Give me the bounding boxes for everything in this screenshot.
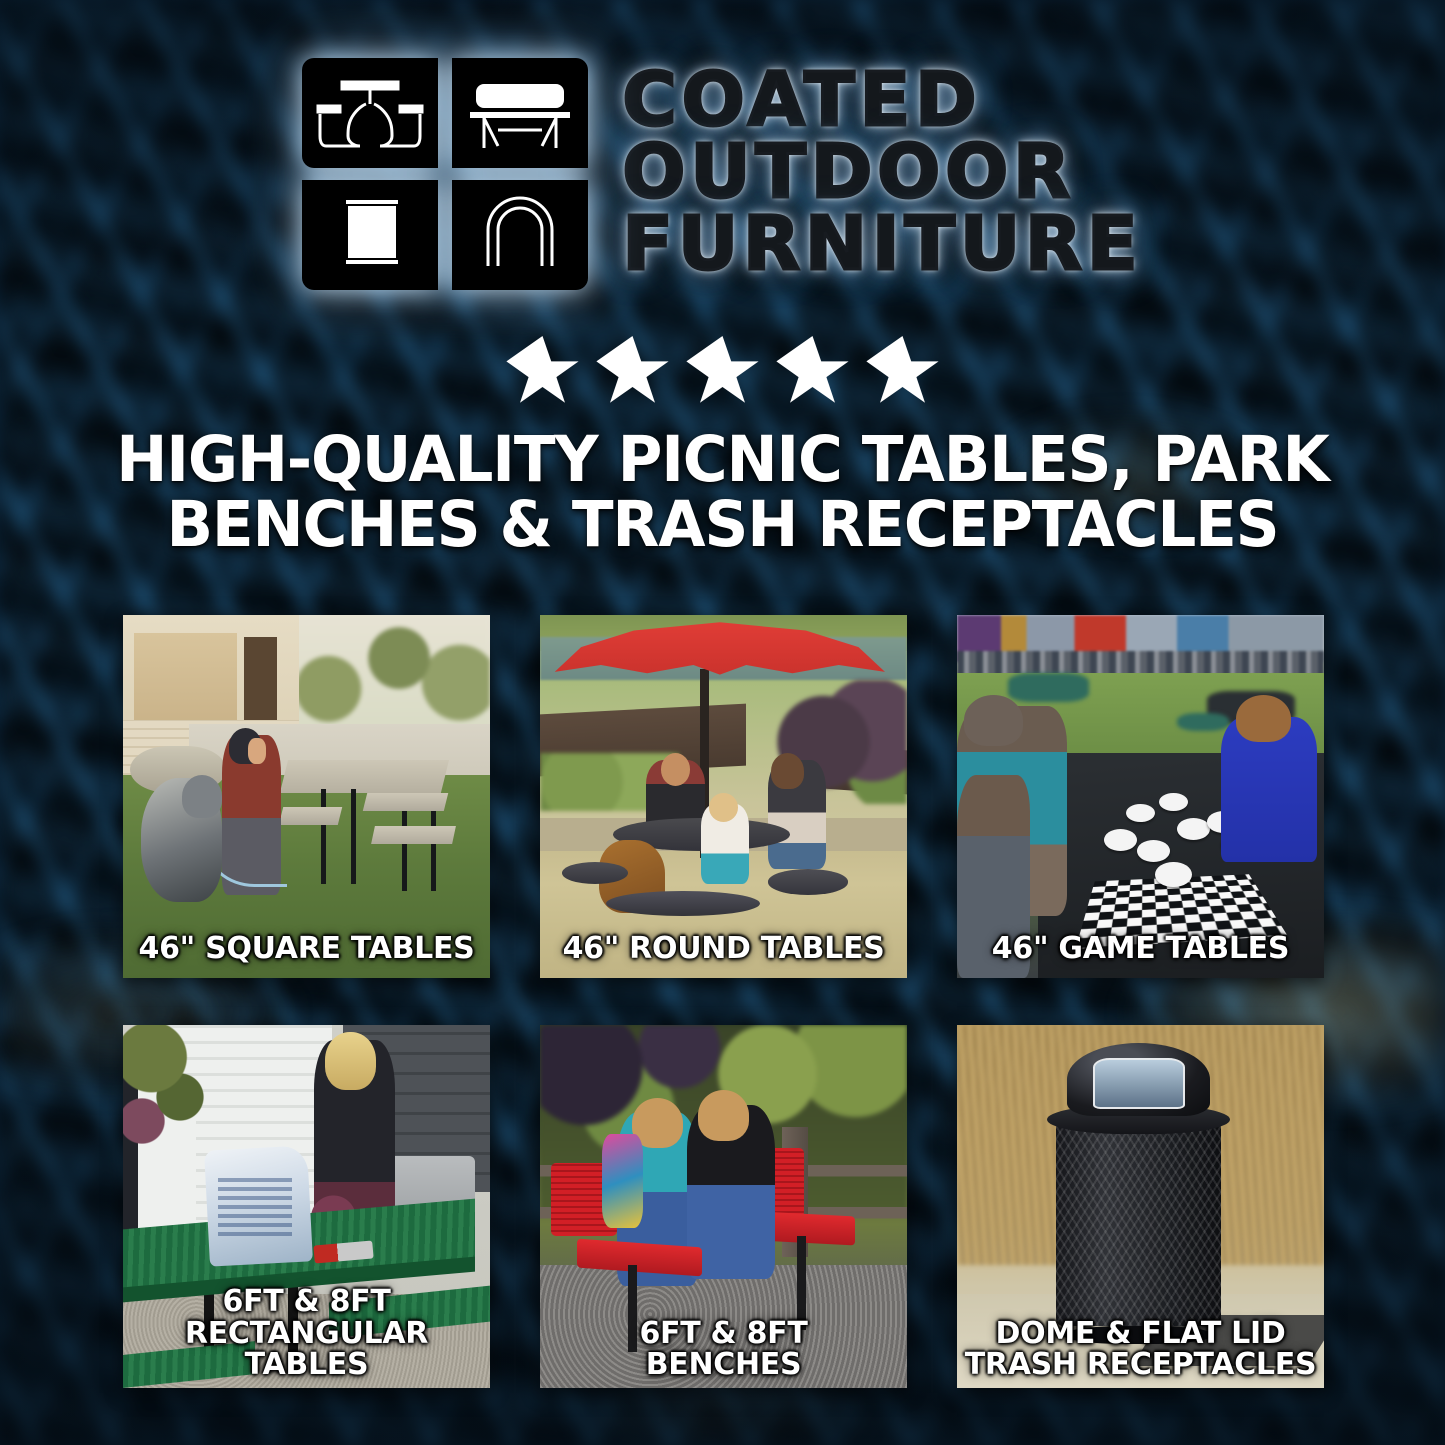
product-photo xyxy=(957,615,1324,978)
caption-line-1: DOME & FLAT LID xyxy=(963,1318,1318,1349)
caption-line-1: 6FT & 8FT xyxy=(129,1286,484,1317)
brand-wordmark: COATED OUTDOOR FURNITURE xyxy=(622,65,1142,284)
headline-line-1: HIGH-QUALITY PICNIC TABLES, PARK xyxy=(70,428,1375,493)
star-rating xyxy=(0,336,1445,408)
star-icon xyxy=(686,336,760,408)
product-caption: DOME & FLAT LID TRASH RECEPTACLES xyxy=(963,1318,1318,1380)
product-tile-benches[interactable]: 6FT & 8FT BENCHES xyxy=(540,1025,907,1388)
product-photo xyxy=(123,615,490,978)
caption-line-2: BENCHES xyxy=(546,1349,901,1380)
star-icon xyxy=(776,336,850,408)
product-photo xyxy=(540,615,907,978)
star-icon xyxy=(866,336,940,408)
caption-line-2: TRASH RECEPTACLES xyxy=(963,1349,1318,1380)
brand-word-1: COATED xyxy=(622,65,1142,135)
headline-line-2: BENCHES & TRASH RECEPTACLES xyxy=(70,493,1375,558)
star-icon xyxy=(506,336,580,408)
caption-line-1: 46" SQUARE TABLES xyxy=(129,933,484,964)
caption-line-2: RECTANGULAR TABLES xyxy=(129,1318,484,1380)
product-caption: 46" GAME TABLES xyxy=(963,933,1318,964)
promotional-poster: COATED OUTDOOR FURNITURE HIGH-QUALITY PI… xyxy=(0,0,1445,1445)
product-caption: 46" SQUARE TABLES xyxy=(129,933,484,964)
product-caption: 46" ROUND TABLES xyxy=(546,933,901,964)
page-title: HIGH-QUALITY PICNIC TABLES, PARK BENCHES… xyxy=(70,428,1375,558)
product-caption: 6FT & 8FT RECTANGULAR TABLES xyxy=(129,1286,484,1380)
trash-receptacle-icon xyxy=(346,200,398,264)
product-tile-round-tables[interactable]: 46" ROUND TABLES xyxy=(540,615,907,978)
brand-word-2: OUTDOOR xyxy=(622,137,1142,207)
product-tile-square-tables[interactable]: 46" SQUARE TABLES xyxy=(123,615,490,978)
brand-word-3: FURNITURE xyxy=(622,209,1142,279)
caption-line-1: 6FT & 8FT xyxy=(546,1318,901,1349)
caption-line-1: 46" ROUND TABLES xyxy=(546,933,901,964)
brand-header: COATED OUTDOOR FURNITURE xyxy=(0,58,1445,290)
caption-line-1: 46" GAME TABLES xyxy=(963,933,1318,964)
product-grid: 46" SQUARE TABLES xyxy=(123,615,1323,1388)
four-panel-outdoor-furniture-logo xyxy=(302,58,588,290)
product-tile-trash-receptacles[interactable]: DOME & FLAT LID TRASH RECEPTACLES xyxy=(957,1025,1324,1388)
product-tile-game-tables[interactable]: 46" GAME TABLES xyxy=(957,615,1324,978)
product-caption: 6FT & 8FT BENCHES xyxy=(546,1318,901,1380)
star-icon xyxy=(596,336,670,408)
product-tile-rectangular-tables[interactable]: 6FT & 8FT RECTANGULAR TABLES xyxy=(123,1025,490,1388)
